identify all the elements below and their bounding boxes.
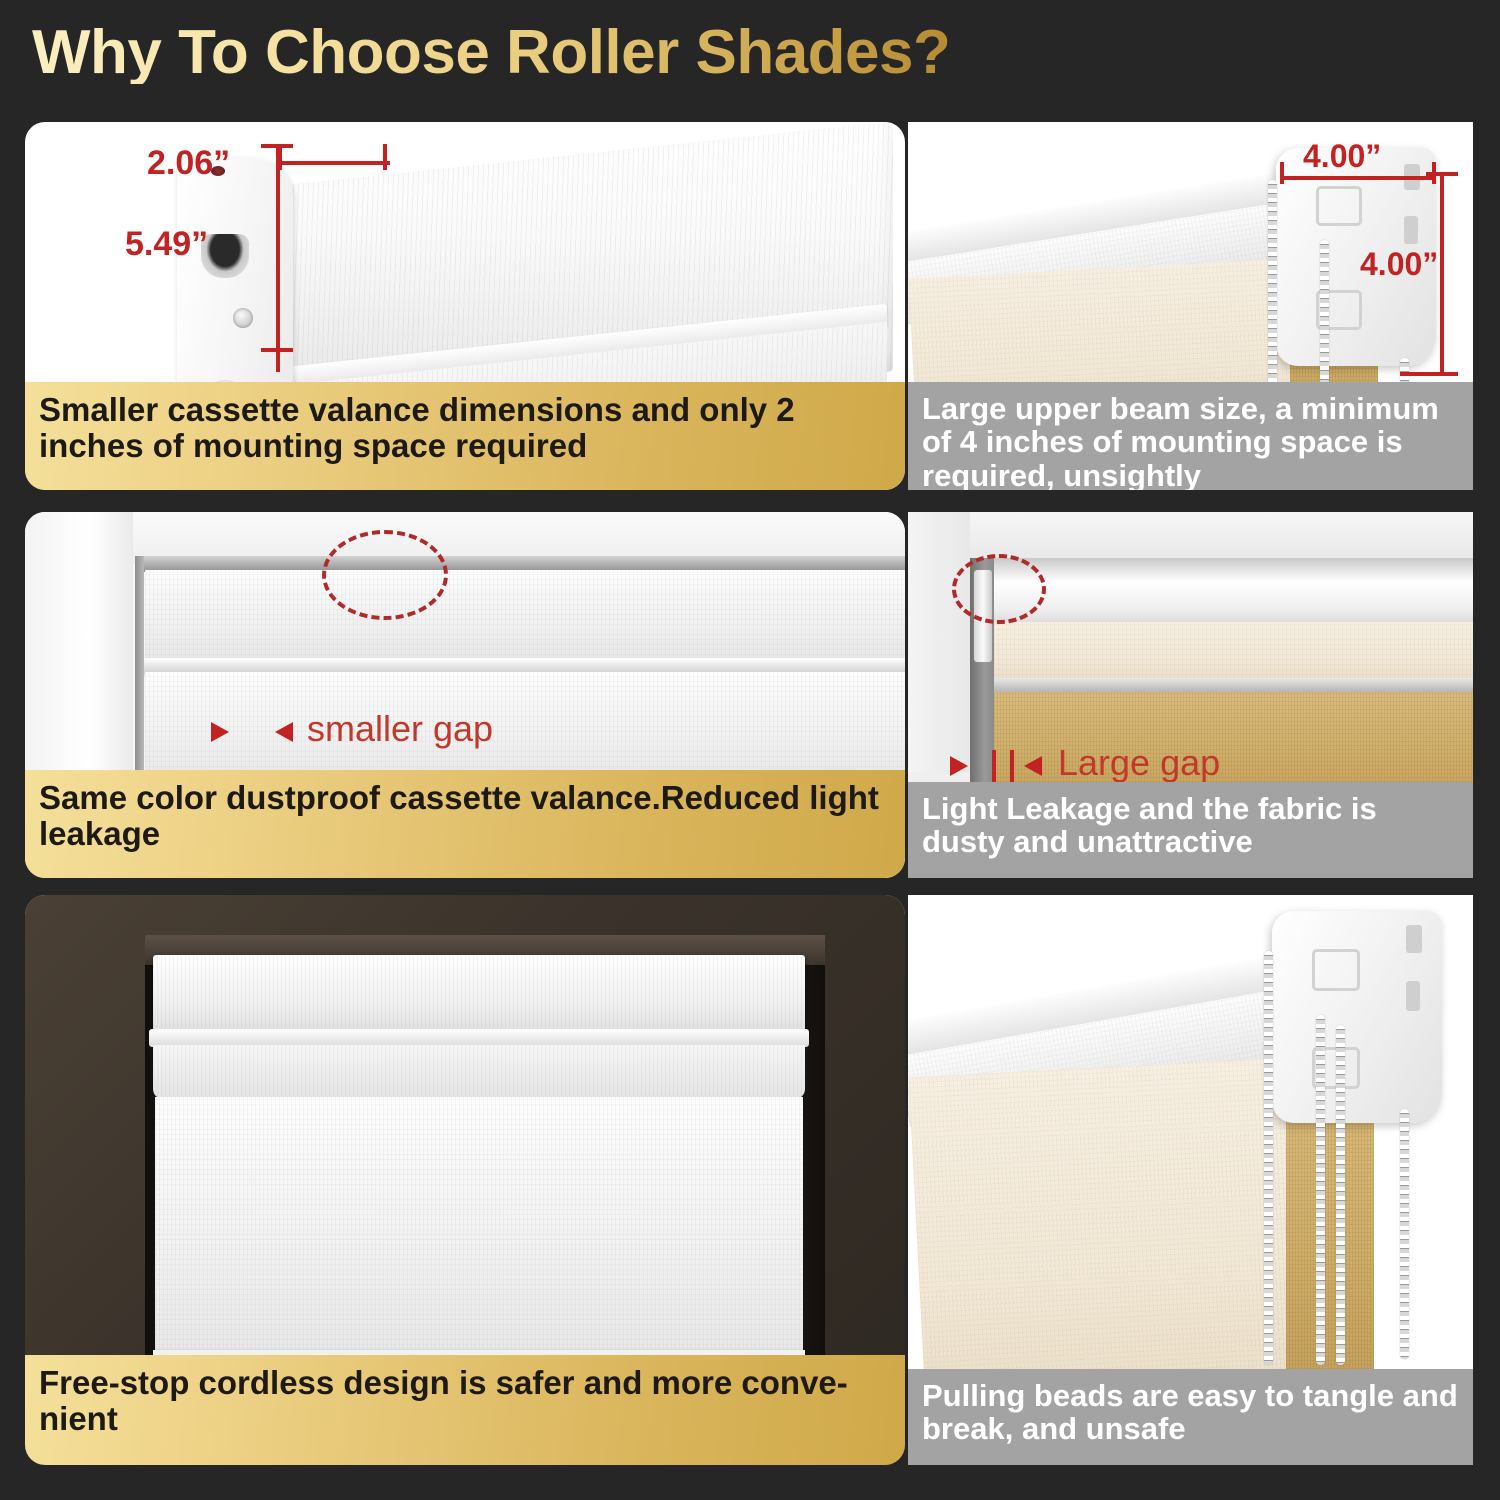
gap-annotation-label: Large gap <box>1058 742 1220 784</box>
shade-fabric-lower <box>145 672 905 782</box>
panel-caption: Same color dustproof cassette valance.Re… <box>25 770 905 878</box>
panel-con-light-leakage: Large gap Light Leakage and the fabric i… <box>908 512 1473 878</box>
gap-arrow-left-icon <box>275 722 293 742</box>
bracket-slot-icon <box>1312 949 1360 991</box>
bead-chain-3 <box>1336 1025 1345 1365</box>
gap-arrow-right-icon <box>950 756 968 776</box>
panel-con-pulling-beads: Pulling beads are easy to tangle and bre… <box>908 895 1473 1465</box>
gap-tick-left <box>992 750 996 782</box>
panel-caption: Smaller cassette valance dimensions and … <box>25 382 905 490</box>
cassette-face-fabric <box>145 570 905 660</box>
panel-caption: Pulling beads are easy to tangle and bre… <box>908 1369 1473 1465</box>
height-dimension-line <box>276 144 280 372</box>
gap-annotation-label: smaller gap <box>307 708 493 750</box>
width-dimension-tick-right <box>383 144 387 170</box>
highlight-circle-gap <box>952 554 1046 624</box>
bracket-mount-hole-icon-2 <box>1406 981 1420 1011</box>
beam-height-label: 4.00” <box>1360 246 1438 283</box>
panel-caption: Large upper beam size, a minimum of 4 in… <box>908 382 1473 490</box>
cassette-lower-face <box>153 1045 805 1099</box>
bead-chain-4 <box>1400 1109 1409 1359</box>
bracket-slot-icon <box>1316 186 1362 226</box>
beam-height-tick-bottom <box>1400 372 1458 376</box>
beam-width-dimension-line <box>1280 176 1435 180</box>
panel-pro-smaller-gap: smaller gap Same color dustproof cassett… <box>25 512 905 878</box>
panel-caption: Light Leakage and the fabric is dusty an… <box>908 782 1473 878</box>
beam-width-tick-left <box>1280 162 1284 184</box>
cream-fabric-band <box>994 622 1473 680</box>
bracket-mount-hole-icon-2 <box>1404 216 1418 244</box>
gap-arrow-left-icon <box>1024 756 1042 776</box>
beam-height-dimension-line <box>1440 172 1444 376</box>
wall-band-top <box>908 512 1473 558</box>
window-frame-left <box>908 512 970 772</box>
panel-pro-cordless-design: Free-stop cordless design is safer and m… <box>25 895 905 1465</box>
highlight-circle-gap <box>322 530 448 620</box>
gap-strip <box>135 556 144 782</box>
bracket-mount-hole-icon <box>1406 925 1422 953</box>
shade-fabric <box>155 1097 803 1355</box>
gap-tick-right <box>1010 750 1014 782</box>
shade-fabric-cream-panel <box>909 1057 1317 1393</box>
width-dimension-line <box>278 161 390 165</box>
panel-con-large-upper-beam: 4.00” 4.00” Large upper beam size, a min… <box>908 122 1473 490</box>
bead-chain <box>1268 180 1277 410</box>
height-dimension-tick-bottom <box>261 348 293 352</box>
cassette-valance <box>153 955 805 1033</box>
panel-caption: Free-stop cordless design is safer and m… <box>25 1355 905 1465</box>
bead-chain-2 <box>1316 1015 1325 1365</box>
page-title: Why To Choose Roller Shades? <box>32 22 950 84</box>
width-dimension-label: 2.06” <box>147 144 230 183</box>
metal-rail <box>994 678 1473 692</box>
end-cap-screw-icon <box>233 308 253 328</box>
window-frame-left <box>25 512 133 782</box>
height-dimension-tick-top <box>261 144 293 148</box>
height-dimension-label: 5.49” <box>125 225 208 264</box>
gap-arrow-right-icon <box>211 722 229 742</box>
beam-height-tick-top <box>1426 172 1458 176</box>
panel-pro-cassette-dimensions: 2.06” 5.49” Smaller cassette valance dim… <box>25 122 905 490</box>
beam-width-label: 4.00” <box>1303 138 1381 175</box>
end-cap-notch-icon <box>201 234 249 278</box>
bead-chain <box>1264 951 1273 1365</box>
